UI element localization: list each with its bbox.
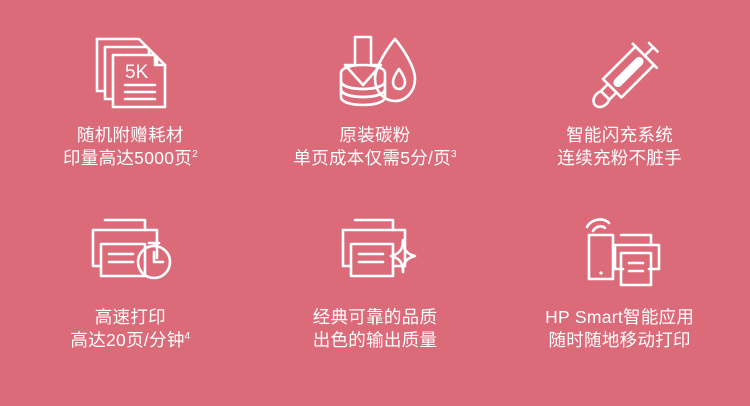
- feature-line-1: 原装碳粉: [293, 124, 456, 147]
- feature-line-1: 经典可靠的品质: [313, 306, 438, 329]
- feature-line-2: 连续充粉不脏手: [557, 147, 682, 170]
- feature-line-1: 高速打印: [70, 306, 190, 329]
- feature-text-block: 随机附赠耗材 印量高达5000页2: [63, 124, 198, 170]
- printer-sparkle-icon: [331, 206, 419, 298]
- footnote-marker: 4: [185, 331, 191, 342]
- phone-wireless-printer-icon: [575, 206, 665, 298]
- feature-cell-hp-smart-app: HP Smart智能应用 随时随地移动打印: [497, 206, 742, 388]
- feature-cell-smart-refill: 智能闪充系统 连续充粉不脏手: [497, 24, 742, 206]
- footnote-marker: 2: [192, 149, 198, 160]
- feature-text-block: HP Smart智能应用 随时随地移动打印: [545, 306, 694, 352]
- toner-refill-droplet-icon: [329, 24, 421, 120]
- feature-text-block: 高速打印 高达20页/分钟4: [70, 306, 190, 352]
- footnote-marker: 3: [451, 149, 457, 160]
- feature-line-2: 随时随地移动打印: [545, 329, 694, 352]
- feature-cell-supplies-included: 5K 随机附赠耗材 印量高达5000页2: [8, 24, 253, 206]
- feature-line-2-text: 出色的输出质量: [313, 330, 438, 350]
- stacked-pages-5k-icon: 5K: [87, 24, 173, 120]
- feature-line-2: 印量高达5000页2: [63, 147, 198, 170]
- feature-line-2-text: 印量高达5000页: [63, 148, 192, 168]
- feature-line-1: 随机附赠耗材: [63, 124, 198, 147]
- feature-cell-fast-printing: 高速打印 高达20页/分钟4: [8, 206, 253, 388]
- feature-line-1: HP Smart智能应用: [545, 306, 694, 329]
- feature-text-block: 智能闪充系统 连续充粉不脏手: [557, 124, 682, 170]
- feature-line-2-text: 单页成本仅需5分/页: [293, 148, 451, 168]
- feature-line-2: 单页成本仅需5分/页3: [293, 147, 456, 170]
- feature-line-2-text: 连续充粉不脏手: [557, 148, 682, 168]
- feature-text-block: 原装碳粉 单页成本仅需5分/页3: [293, 124, 456, 170]
- printer-stopwatch-icon: [83, 206, 177, 298]
- feature-line-2: 出色的输出质量: [313, 329, 438, 352]
- stacked-pages-label: 5K: [125, 62, 149, 83]
- feature-grid: 5K 随机附赠耗材 印量高达5000页2: [0, 0, 750, 406]
- feature-line-1: 智能闪充系统: [557, 124, 682, 147]
- feature-cell-print-quality: 经典可靠的品质 出色的输出质量: [253, 206, 498, 388]
- feature-line-2-text: 高达20页/分钟: [70, 330, 184, 350]
- feature-line-2-text: 随时随地移动打印: [548, 330, 690, 350]
- feature-cell-genuine-toner: 原装碳粉 单页成本仅需5分/页3: [253, 24, 498, 206]
- feature-text-block: 经典可靠的品质 出色的输出质量: [313, 306, 438, 352]
- syringe-refill-icon: [575, 24, 665, 120]
- feature-line-2: 高达20页/分钟4: [70, 329, 190, 352]
- printer-features-banner: 5K 随机附赠耗材 印量高达5000页2: [0, 0, 750, 406]
